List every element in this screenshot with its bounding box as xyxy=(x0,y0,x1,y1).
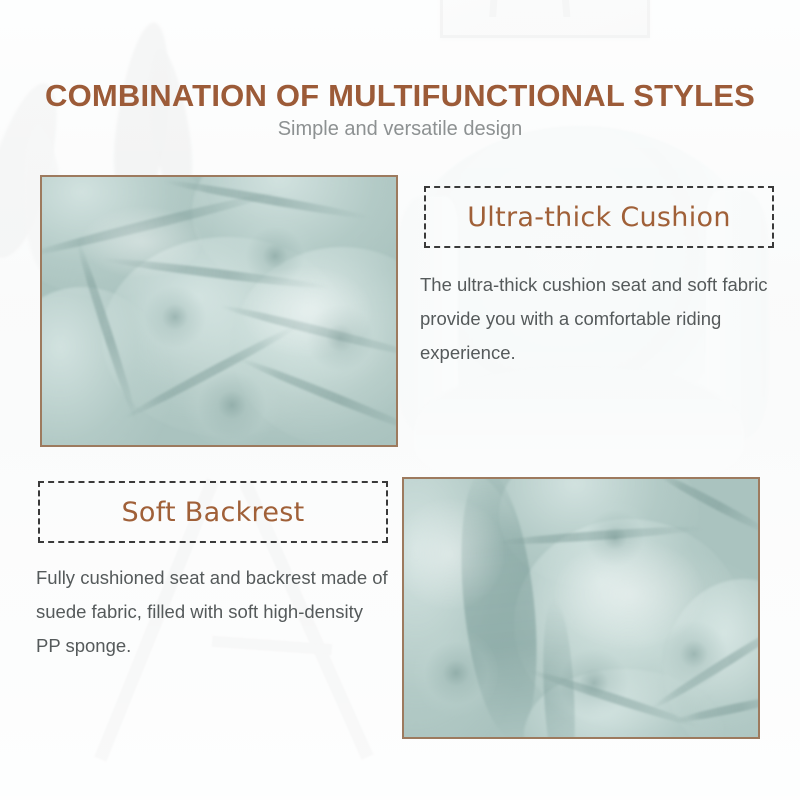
cushion-highlight xyxy=(242,267,372,357)
cushion-photo-inner xyxy=(42,177,396,445)
cushion-tuft-button xyxy=(130,277,220,357)
feature-heading-ultra-thick-cushion: Ultra-thick Cushion xyxy=(426,202,772,233)
backrest-tuft-button xyxy=(544,639,644,727)
cushion-tuft-button xyxy=(182,362,282,447)
feature-body-soft-backrest: Fully cushioned seat and backrest made o… xyxy=(36,561,388,663)
feature-heading-soft-backrest: Soft Backrest xyxy=(40,497,386,528)
cushion-highlight xyxy=(82,207,202,277)
backrest-highlight xyxy=(554,539,704,649)
page-subtitle: Simple and versatile design xyxy=(0,118,800,141)
backrest-tuft-button xyxy=(414,629,498,717)
feature-heading-box-ultra-thick-cushion: Ultra-thick Cushion xyxy=(424,186,774,248)
feature-body-ultra-thick-cushion: The ultra-thick cushion seat and soft fa… xyxy=(420,268,778,370)
page-title: COMBINATION OF MULTIFUNCTIONAL STYLES xyxy=(0,78,800,114)
product-photo-cushion-closeup xyxy=(40,175,398,447)
marketing-panel: COMBINATION OF MULTIFUNCTIONAL STYLES Si… xyxy=(0,0,800,800)
backrest-photo-inner xyxy=(404,479,758,737)
product-photo-backrest-closeup xyxy=(402,477,760,739)
feature-heading-box-soft-backrest: Soft Backrest xyxy=(38,481,388,543)
